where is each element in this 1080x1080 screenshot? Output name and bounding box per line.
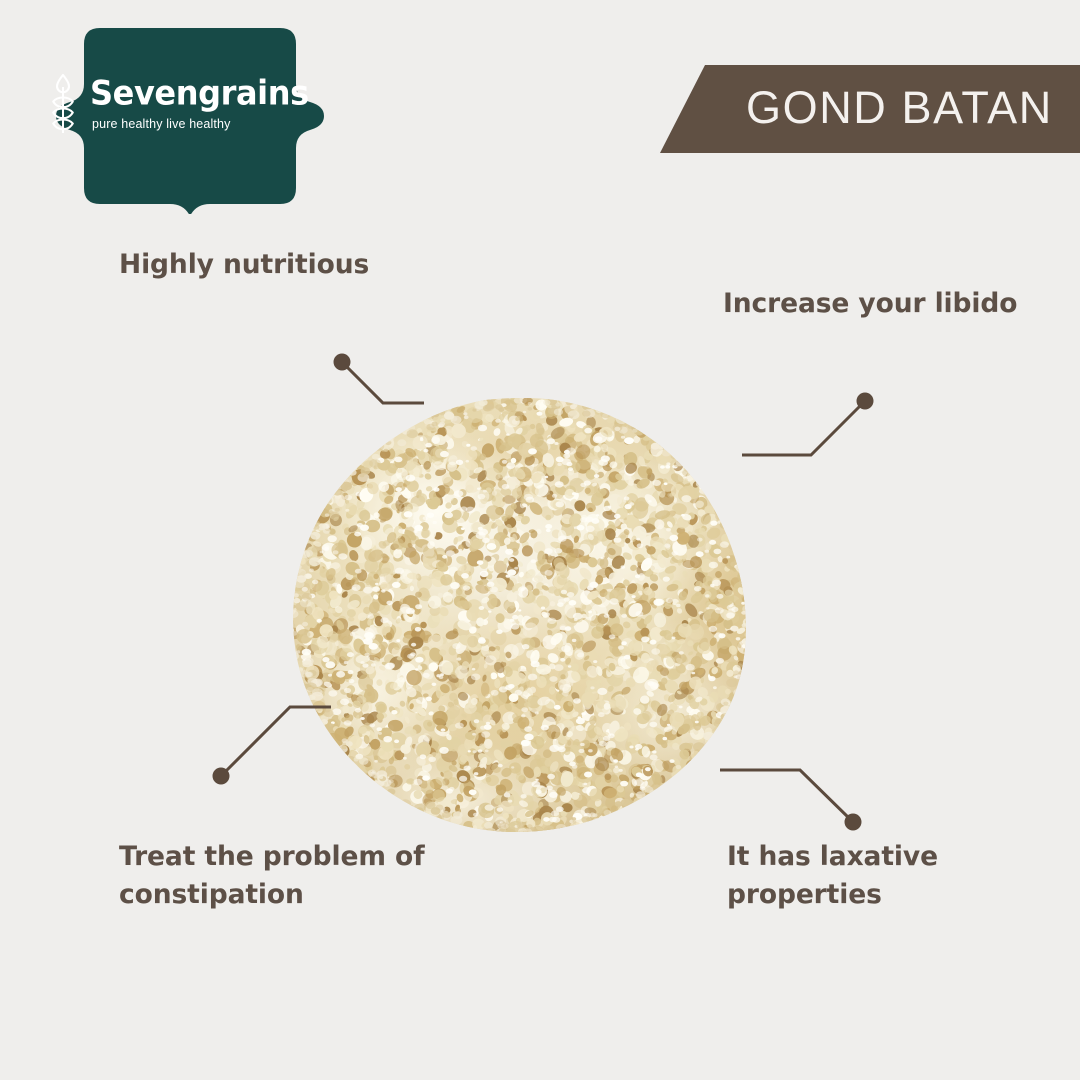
logo-wordmark: Sevengrains pure healthy live healthy bbox=[90, 77, 309, 132]
title-banner bbox=[650, 58, 1080, 158]
connector-dot-increase-your-libido bbox=[857, 393, 874, 410]
banner-parallelogram bbox=[660, 65, 1080, 153]
connector-dot-laxative-properties bbox=[845, 814, 862, 831]
callout-label-highly-nutritious: Highly nutritious bbox=[119, 246, 369, 284]
callout-label-increase-your-libido: Increase your libido bbox=[723, 285, 1017, 323]
product-image bbox=[286, 392, 764, 842]
logo-content: Sevengrains pure healthy live healthy bbox=[46, 56, 296, 152]
callout-label-treat-constipation: Treat the problem of constipation bbox=[119, 838, 425, 913]
brand-name: Sevengrains bbox=[90, 76, 309, 112]
callout-label-laxative-properties: It has laxative properties bbox=[727, 838, 938, 913]
brand-tagline: pure healthy live healthy bbox=[92, 117, 231, 131]
infographic-canvas: Sevengrains pure healthy live healthy GO… bbox=[0, 0, 1080, 1080]
connector-dot-treat-constipation bbox=[213, 768, 230, 785]
connector-dot-highly-nutritious bbox=[334, 354, 351, 371]
wheat-stalk-icon bbox=[46, 73, 80, 135]
